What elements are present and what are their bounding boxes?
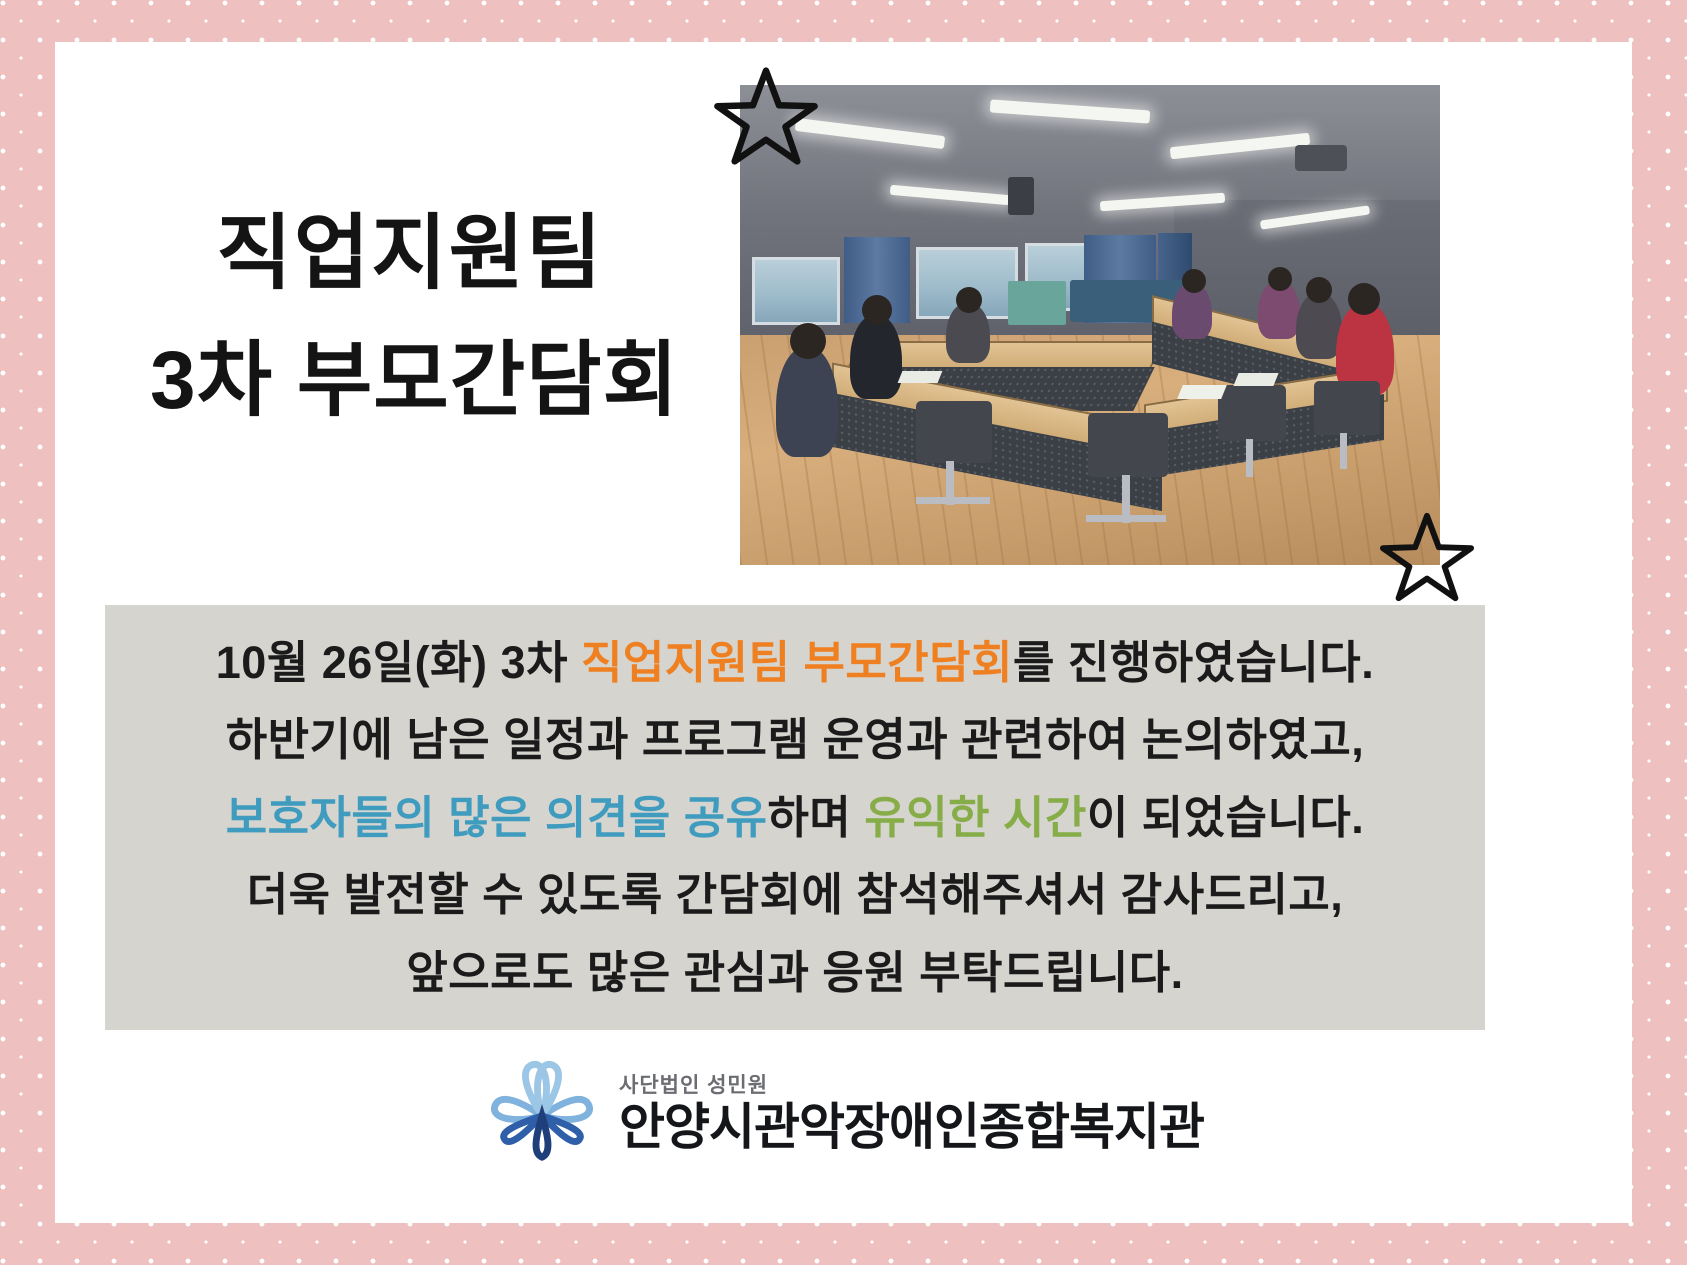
body-line-1-post: 를 진행하였습니다. <box>1013 637 1374 688</box>
body-line-5: 앞으로도 많은 관심과 응원 부탁드립니다. <box>406 934 1183 1011</box>
photo-paper <box>1177 385 1227 399</box>
photo-participant-head <box>1306 277 1332 303</box>
event-photo <box>740 85 1440 565</box>
logo-subtitle: 사단법인 성민원 <box>619 1069 1204 1099</box>
photo-projector <box>1295 145 1347 171</box>
body-line-4: 더욱 발전할 수 있도록 간담회에 참석해주셔서 감사드리고, <box>247 856 1344 933</box>
photo-participant-head <box>956 287 982 313</box>
body-line-2: 하반기에 남은 일정과 프로그램 운영과 관련하여 논의하였고, <box>226 701 1365 778</box>
body-line-3-mid: 하며 <box>768 792 865 843</box>
body-line-1-pre: 10월 26일(화) 3차 <box>216 637 581 688</box>
body-line-1-highlight: 직업지원팀 부모간담회 <box>581 637 1013 688</box>
photo-chair-leg <box>1340 433 1347 469</box>
body-line-1: 10월 26일(화) 3차 직업지원팀 부모간담회를 진행하였습니다. <box>216 624 1374 701</box>
photo-participant <box>850 315 902 399</box>
photo-chair <box>1218 385 1286 441</box>
photo-window <box>752 257 840 325</box>
photo-paper <box>898 371 943 383</box>
poster-title: 직업지원팀 3차 부모간담회 <box>150 190 670 444</box>
photo-participant-head <box>1182 269 1206 293</box>
photo-chair <box>1088 413 1168 477</box>
title-line-2: 3차 부모간담회 <box>150 317 670 444</box>
body-line-3-post: 이 되었습니다. <box>1087 792 1364 843</box>
photo-participant-head <box>1348 283 1380 315</box>
organization-logo: 사단법인 성민원 안양시관악장애인종합복지관 <box>0 1055 1687 1167</box>
logo-title: 안양시관악장애인종합복지관 <box>619 1101 1204 1153</box>
photo-chair-leg <box>1246 439 1253 477</box>
photo-speaker <box>1008 177 1034 215</box>
photo-chair <box>916 401 992 463</box>
body-text-panel: 10월 26일(화) 3차 직업지원팀 부모간담회를 진행하였습니다. 하반기에… <box>105 605 1485 1030</box>
photo-chair <box>1314 381 1380 435</box>
body-line-3: 보호자들의 많은 의견을 공유하며 유익한 시간이 되었습니다. <box>226 779 1365 856</box>
photo-chair-leg <box>1086 515 1166 522</box>
photo-paper <box>1233 373 1278 386</box>
event-photo-wrap <box>740 85 1440 565</box>
photo-chair-leg <box>916 497 990 504</box>
flower-logo-icon <box>483 1055 601 1167</box>
photo-green-panel <box>1008 281 1066 325</box>
body-line-3-highlight-teal: 보호자들의 많은 의견을 공유 <box>226 792 768 843</box>
photo-participant <box>776 347 838 457</box>
photo-participant-head <box>862 295 892 325</box>
photo-participant-head <box>1268 267 1292 291</box>
poster-root: 직업지원팀 3차 부모간담회 <box>0 0 1687 1265</box>
photo-participant-head <box>790 323 826 359</box>
title-line-1: 직업지원팀 <box>150 190 670 317</box>
body-line-3-highlight-green: 유익한 시간 <box>864 792 1087 843</box>
logo-text-block: 사단법인 성민원 안양시관악장애인종합복지관 <box>619 1069 1204 1153</box>
